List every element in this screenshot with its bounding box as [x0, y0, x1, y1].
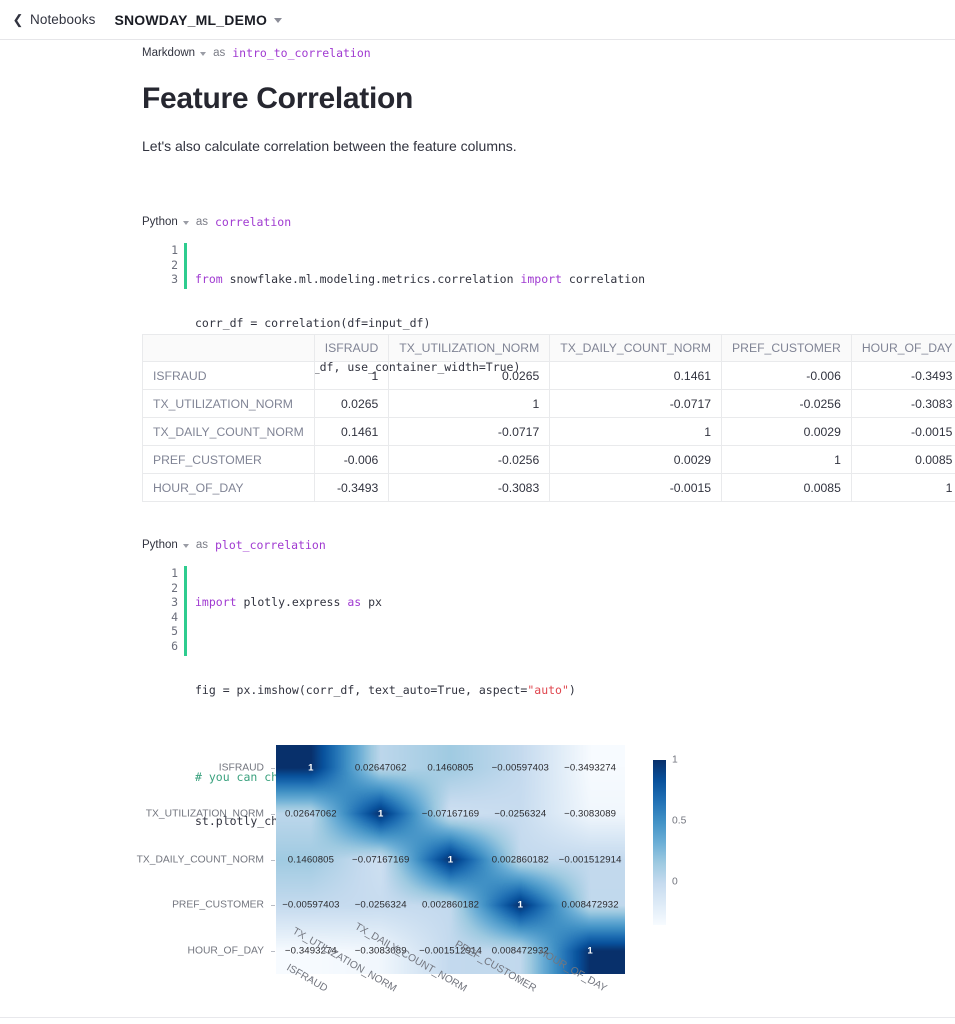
heatmap-cell-value-diagonal: 1: [308, 762, 313, 773]
heatmap-y-tick-mark: [271, 814, 275, 815]
heatmap-cell-value: −0.001512914: [559, 854, 622, 865]
heatmap-cell-value: −0.07167169: [422, 808, 479, 819]
notebook-body: Markdown as intro_to_correlation Feature…: [0, 40, 955, 1024]
colorbar-tick-label: 1: [672, 755, 678, 766]
colorbar-tick-label: 0: [672, 877, 678, 888]
heatmap-cell-value: −0.00597403: [282, 900, 339, 911]
heatmap-cell-value: 0.002860182: [422, 900, 479, 911]
heatmap-cell-value: −0.0256324: [355, 900, 407, 911]
heatmap-cell-value: 0.02647062: [355, 762, 407, 773]
heatmap-y-tick-mark: [271, 951, 275, 952]
top-bar: ❮ Notebooks SNOWDAY_ML_DEMO: [0, 0, 955, 40]
heatmap-cell-value: 0.1460805: [427, 762, 473, 773]
heatmap-y-tick-label: ISFRAUD: [60, 762, 264, 773]
heatmap-cell-value: 0.02647062: [285, 808, 337, 819]
heatmap-cell-value: −0.0256324: [494, 808, 546, 819]
heatmap-cell-value: 0.002860182: [492, 854, 549, 865]
heatmap-y-tick-label: TX_UTILIZATION_NORM: [60, 808, 264, 819]
heatmap-y-tick-label: PREF_CUSTOMER: [60, 900, 264, 911]
heatmap-cell-value: −0.3083089: [564, 808, 616, 819]
heatmap-y-tick-label: TX_DAILY_COUNT_NORM: [60, 854, 264, 865]
heatmap-cell-value: −0.3493274: [564, 762, 616, 773]
heatmap-cell-value-diagonal: 1: [587, 946, 592, 957]
chevron-left-icon[interactable]: ❮: [11, 13, 25, 27]
colorbar-gradient: [653, 760, 666, 925]
heatmap-colorbar[interactable]: [653, 760, 666, 925]
heatmap-cell-value-diagonal: 1: [518, 900, 523, 911]
heatmap-y-tick-mark: [271, 905, 275, 906]
heatmap-cell-value: −0.07167169: [352, 854, 409, 865]
heatmap-cell-value: 0.008472932: [562, 900, 619, 911]
heatmap-cell-value: 0.1460805: [288, 854, 334, 865]
chevron-down-icon[interactable]: [274, 18, 282, 23]
heatmap-y-tick-mark: [271, 860, 275, 861]
heatmap-cell-value: −0.00597403: [492, 762, 549, 773]
heatmap-plot-area[interactable]: 10.026470620.1460805−0.00597403−0.349327…: [276, 745, 625, 974]
notebook-title[interactable]: SNOWDAY_ML_DEMO: [114, 12, 267, 28]
heatmap-y-tick-label: HOUR_OF_DAY: [60, 946, 264, 957]
breadcrumb-notebooks[interactable]: Notebooks: [30, 12, 95, 27]
page-divider: [0, 1017, 955, 1018]
correlation-heatmap-chart[interactable]: 10.026470620.1460805−0.00597403−0.349327…: [0, 40, 955, 1024]
heatmap-cell-value-diagonal: 1: [378, 808, 383, 819]
colorbar-tick-label: 0.5: [672, 816, 686, 827]
heatmap-cell-value-diagonal: 1: [448, 854, 453, 865]
heatmap-y-tick-mark: [271, 768, 275, 769]
